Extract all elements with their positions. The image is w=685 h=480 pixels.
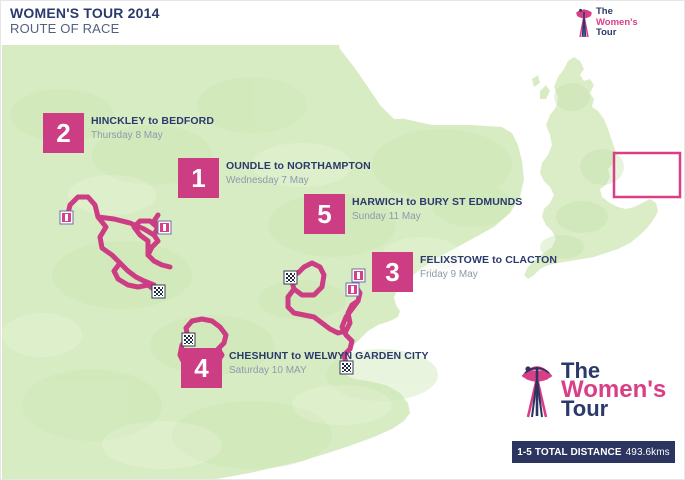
stage-name-4: CHESHUNT to WELWYN GARDEN CITY <box>229 350 429 363</box>
inset-highlight-rect <box>614 153 680 197</box>
stage-badge-1[interactable]: 1 <box>178 158 219 198</box>
stage-label-4: CHESHUNT to WELWYN GARDEN CITY Saturday … <box>229 350 429 377</box>
stage-label-5: HARWICH to BURY ST EDMUNDS Sunday 11 May <box>352 196 522 223</box>
stage-date-5: Sunday 11 May <box>352 210 522 223</box>
stage-name-5: HARWICH to BURY ST EDMUNDS <box>352 196 522 209</box>
stage-date-2: Thursday 8 May <box>91 129 214 142</box>
uk-locator-map <box>524 57 680 279</box>
stage-badge-3[interactable]: 3 <box>372 252 413 292</box>
distance-value: 493.6kms <box>626 447 670 458</box>
brand-logo: The Women's Tour <box>517 359 677 419</box>
stage-name-1: OUNDLE to NORTHAMPTON <box>226 160 371 173</box>
stage-name-2: HINCKLEY to BEDFORD <box>91 115 214 128</box>
stage-label-2: HINCKLEY to BEDFORD Thursday 8 May <box>91 115 214 142</box>
page-subtitle: ROUTE OF RACE <box>10 21 120 36</box>
stage-badge-2[interactable]: 2 <box>43 113 84 153</box>
header-logo-line2: Women's <box>596 17 638 28</box>
brand-logo-text: The Women's Tour <box>561 359 666 420</box>
womens-tour-logo-icon <box>517 361 557 419</box>
womens-tour-logo-icon <box>572 7 596 39</box>
header-logo: The Women's Tour <box>572 6 642 40</box>
page-header: WOMEN'S TOUR 2014 ROUTE OF RACE The Wome… <box>1 1 685 45</box>
stage-label-1: OUNDLE to NORTHAMPTON Wednesday 7 May <box>226 160 371 187</box>
stage-label-3: FELIXSTOWE to CLACTON Friday 9 May <box>420 254 557 281</box>
header-logo-line1: The <box>596 6 613 17</box>
stage-name-3: FELIXSTOWE to CLACTON <box>420 254 557 267</box>
route-map-page: WOMEN'S TOUR 2014 ROUTE OF RACE The Wome… <box>0 0 685 480</box>
stage-date-3: Friday 9 May <box>420 268 557 281</box>
header-logo-text: The Women's Tour <box>596 7 638 39</box>
stage-badge-4[interactable]: 4 <box>181 348 222 388</box>
total-distance-bar: 1-5 TOTAL DISTANCE 493.6kms <box>512 441 675 463</box>
stage-badge-5[interactable]: 5 <box>304 194 345 234</box>
page-title: WOMEN'S TOUR 2014 <box>10 5 160 21</box>
stage-date-4: Saturday 10 MAY <box>229 364 429 377</box>
stage-date-1: Wednesday 7 May <box>226 174 371 187</box>
header-logo-line3: Tour <box>596 27 616 38</box>
distance-label: 1-5 TOTAL DISTANCE <box>517 447 621 458</box>
